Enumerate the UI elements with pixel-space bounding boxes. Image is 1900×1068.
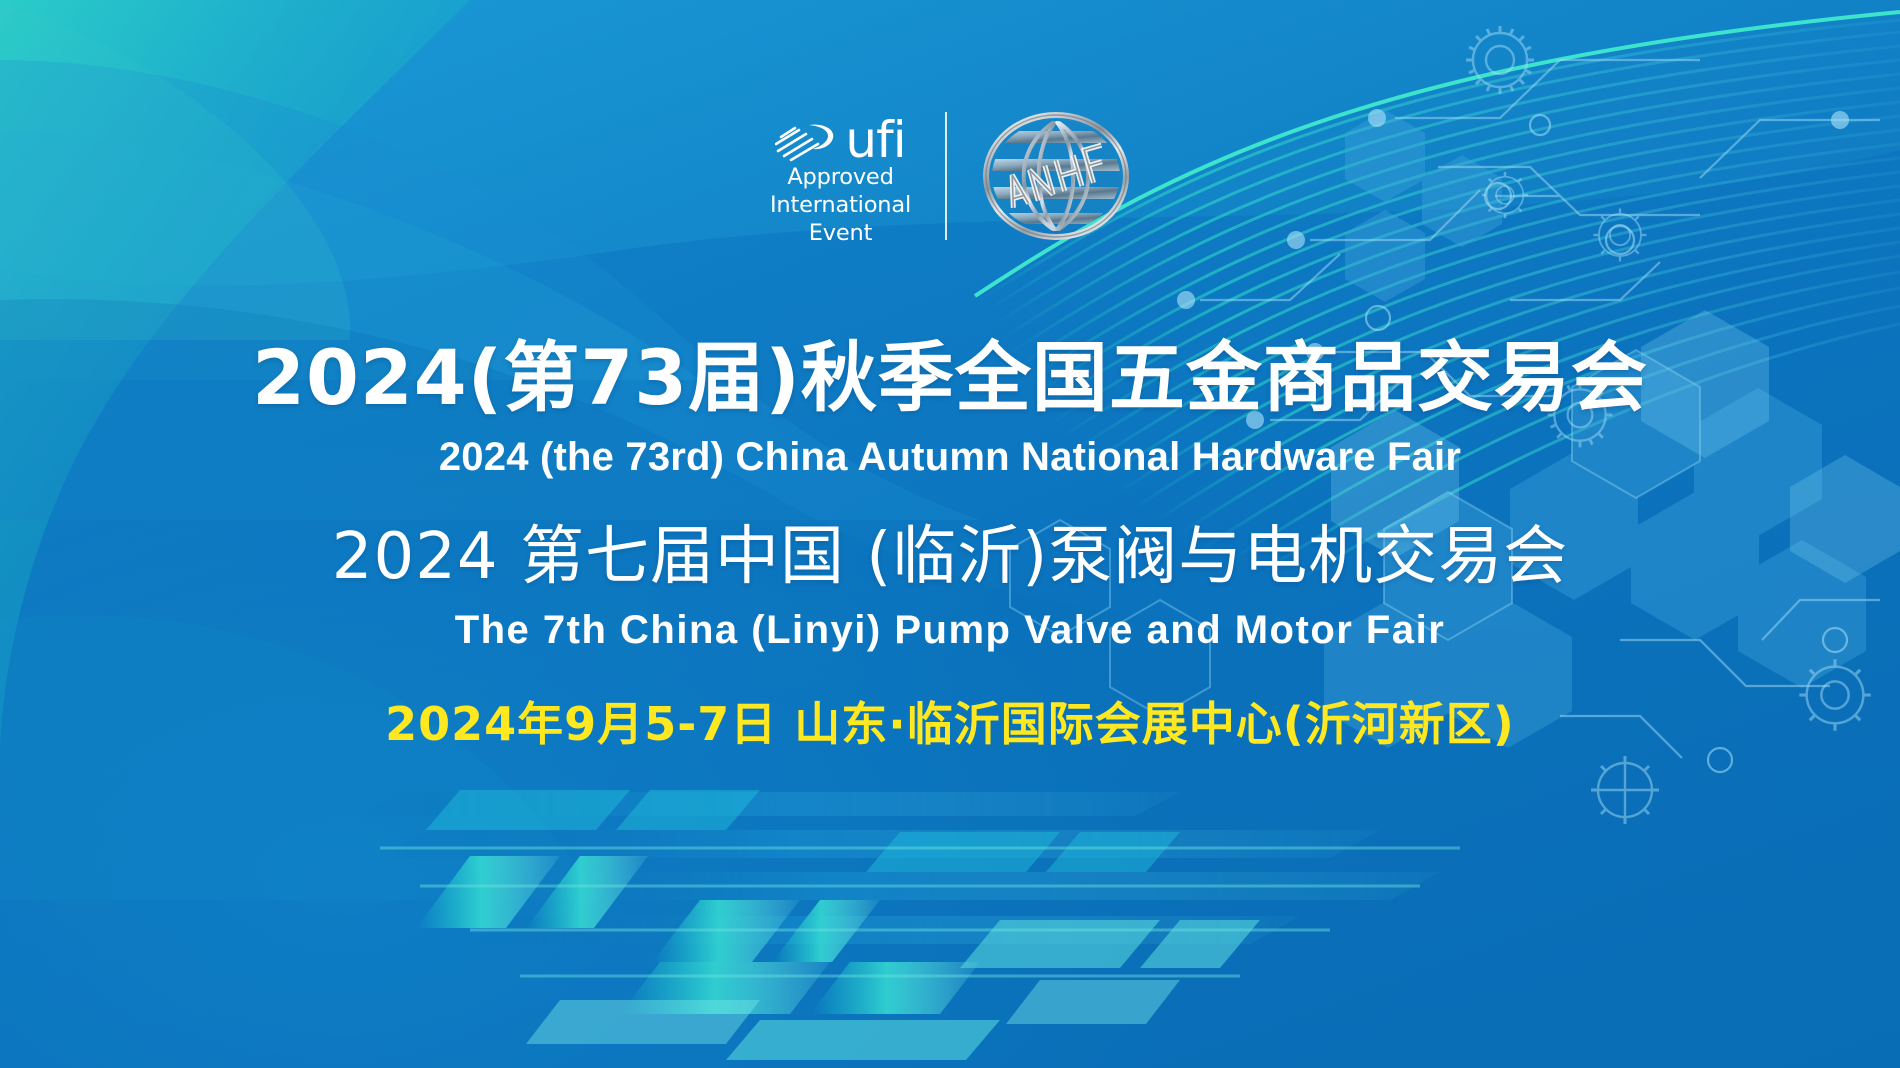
ufi-swoosh-icon <box>775 118 841 162</box>
logo-divider <box>945 112 947 240</box>
ufi-subtitle-line2: International <box>770 193 911 218</box>
ufi-wordmark-row: ufi <box>775 106 905 162</box>
main-title-english: 2024 (the 73rd) China Autumn National Ha… <box>0 434 1900 480</box>
anhf-globe-icon <box>981 101 1131 251</box>
header-logo-row: ufi Approved International Event <box>770 96 1131 256</box>
ufi-wordmark-text: ufi <box>845 118 905 162</box>
ufi-subtitle-line1: Approved <box>787 165 893 190</box>
main-title-chinese: 2024(第73届)秋季全国五金商品交易会 <box>0 336 1900 420</box>
second-title-english: The 7th China (Linyi) Pump Valve and Mot… <box>0 606 1900 654</box>
second-title-chinese: 2024 第七届中国 (临沂)泵阀与电机交易会 <box>0 520 1900 594</box>
ufi-approved-event-logo: ufi Approved International Event <box>770 106 945 246</box>
ufi-subtitle-line3: Event <box>809 221 872 246</box>
date-and-venue: 2024年9月5-7日 山东·临沂国际会展中心(沂河新区) <box>0 696 1900 752</box>
title-block: 2024(第73届)秋季全国五金商品交易会 2024 (the 73rd) Ch… <box>0 336 1900 752</box>
poster-canvas: ufi Approved International Event <box>0 0 1900 1068</box>
